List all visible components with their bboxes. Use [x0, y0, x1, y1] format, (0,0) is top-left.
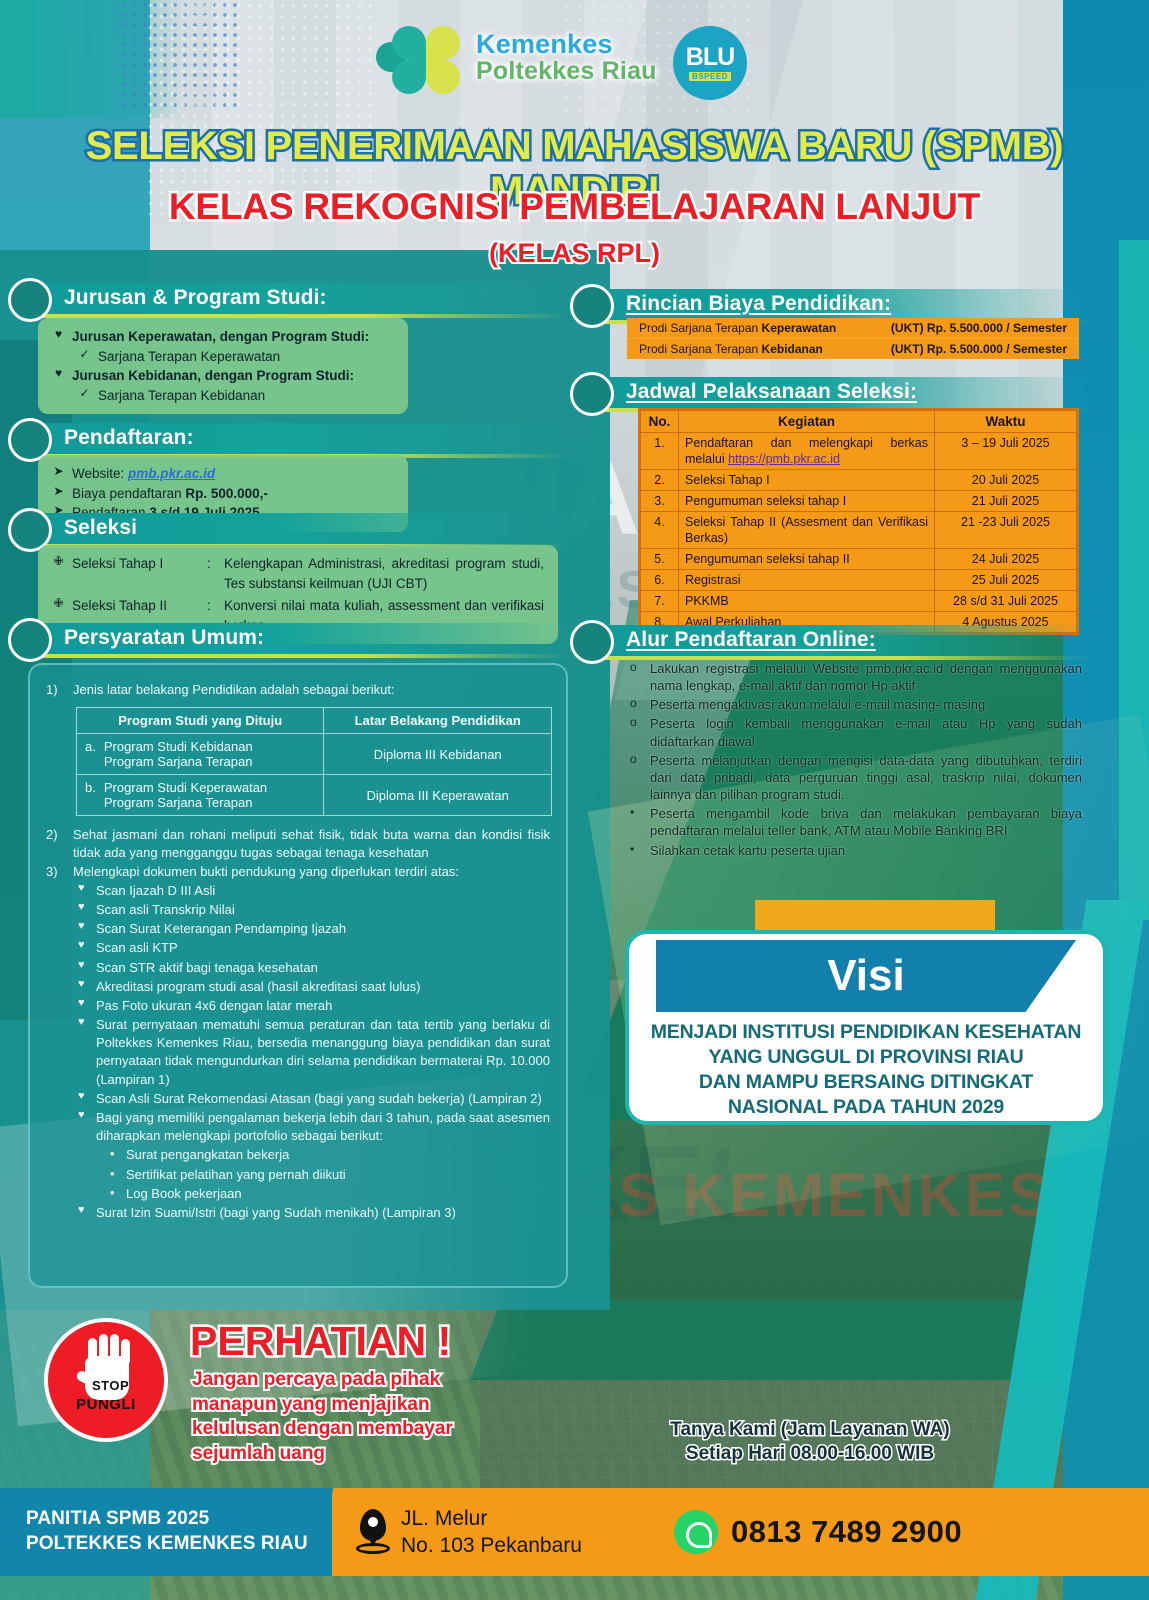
footer-blue-bar: PANITIA SPMB 2025 POLTEKKES KEMENKES RIA… — [0, 1488, 332, 1576]
doc-item: Akreditasi program studi asal (hasil akr… — [96, 978, 420, 996]
alur-step-text: Peserta melanjutkan dengan mengisi data-… — [650, 752, 1082, 803]
cell-kegiatan: Registrasi — [679, 570, 935, 591]
list-item: ➤ Website: pmb.pkr.ac.id — [52, 464, 394, 484]
card-jurusan: ♥ Jurusan Keperawatan, dengan Program St… — [38, 318, 408, 414]
prodi-line-1: Program Studi Keperawatan — [104, 780, 267, 795]
section-underline — [38, 314, 568, 318]
list-item: •Log Book pekerjaan — [46, 1185, 550, 1203]
cell-kegiatan: Seleksi Tahap II (Assesment dan Verifika… — [679, 512, 935, 549]
seleksi-tahap-1-label: Seleksi Tahap I — [72, 554, 200, 574]
doc-item-last: Surat Izin Suami/Istri (bagi yang Sudah … — [96, 1204, 456, 1222]
row-index: a. — [85, 739, 96, 769]
alur-step-text: Peserta mengaktivasi akun melalui e-mail… — [650, 696, 985, 713]
list-item: •Silahkan cetak kartu peserta ujian — [630, 842, 1082, 859]
check-bullet-icon: ✓ — [78, 386, 91, 400]
section-title-persyaratan: Persyaratan Umum: — [38, 623, 568, 654]
table-row: 7. PKKMB 28 s/d 31 Juli 2025 — [641, 591, 1077, 612]
footer-whatsapp[interactable]: 0813 7489 2900 — [674, 1510, 962, 1554]
logo-line-2: Poltekkes Riau — [476, 59, 657, 85]
dot-bullet-icon: • — [630, 805, 641, 821]
panel-persyaratan: 1) Jenis latar belakang Pendidikan adala… — [28, 663, 568, 1288]
arrow-bullet-icon: ➤ — [52, 484, 65, 498]
list-item: ✙ Seleksi Tahap I : Kelengkapan Administ… — [52, 554, 544, 593]
heart-bullet-icon: ♥ — [78, 1016, 88, 1028]
item-number: 1) — [46, 681, 66, 699]
dot-bullet-icon: • — [110, 1185, 118, 1200]
dot-bullet-icon: • — [110, 1146, 118, 1161]
table-row: Prodi Sarjana Terapan Keperawatan (UKT) … — [627, 318, 1079, 338]
prodi-keperawatan-label: Sarjana Terapan Keperawatan — [98, 347, 280, 367]
address-line-2: No. 103 Pekanbaru — [401, 1532, 582, 1559]
wa-hours-line-1: Tanya Kami (Jam Layanan WA) — [600, 1418, 1020, 1442]
list-item: ♥Surat Izin Suami/Istri (bagi yang Sudah… — [46, 1204, 550, 1222]
item-number: 2) — [46, 826, 66, 844]
list-item: oPeserta mengaktivasi akun melalui e-mai… — [630, 696, 1082, 713]
heart-bullet-icon: ♥ — [78, 978, 88, 990]
doc-item: Scan STR aktif bagi tenaga kesehatan — [96, 959, 318, 977]
biaya-value: Rp. 500.000,- — [185, 486, 268, 501]
list-item: ♥ Jurusan Kebidanan, dengan Program Stud… — [52, 366, 394, 386]
cell-waktu: 21 Juli 2025 — [935, 491, 1077, 512]
heart-bullet-icon: ♥ — [78, 959, 88, 971]
table-latar-belakang: Program Studi yang Dituju Latar Belakang… — [76, 707, 552, 816]
portofolio-item: Sertifikat pelatihan yang pernah diikuti — [126, 1166, 346, 1184]
col-header-prodi: Program Studi yang Dituju — [77, 708, 324, 734]
section-title-pendaftaran: Pendaftaran: — [38, 423, 568, 454]
prodi-line-2: Program Sarjana Terapan — [104, 795, 253, 810]
doc-item: Scan Surat Keterangan Pendamping Ijazah — [96, 920, 346, 938]
row-index: b. — [85, 780, 96, 810]
diamond-bullet-icon: ✙ — [52, 554, 65, 568]
cell-waktu: 21 -23 Juli 2025 — [935, 512, 1077, 549]
section-underline — [600, 656, 1090, 660]
arrow-bullet-icon: ➤ — [52, 464, 65, 478]
cell-no: 3. — [641, 491, 679, 512]
dot-bullet-icon: • — [110, 1166, 118, 1181]
logo-text: Kemenkes Poltekkes Riau — [476, 31, 657, 84]
blu-badge-icon: BLU BSPEED — [673, 26, 747, 100]
prodi-line-2: Program Sarjana Terapan — [104, 754, 253, 769]
stop-label: STOP — [92, 1378, 129, 1393]
prodi-kebidanan-label: Sarjana Terapan Kebidanan — [98, 386, 265, 406]
table-row: Prodi Sarjana Terapan Kebidanan (UKT) Rp… — [627, 338, 1079, 359]
biaya-amount-kebidanan: (UKT) Rp. 5.500.000 / Semester — [891, 342, 1067, 356]
list-alur-pendaftaran: oLakukan registrasi melalui Website pmb.… — [630, 660, 1082, 861]
list-item: •Peserta mengambil kode briva dan melaku… — [630, 805, 1082, 839]
col-header-no: No. — [641, 411, 679, 433]
alur-step-text: Peserta login kembali menggunakan e-mail… — [650, 715, 1082, 749]
prodi-line-1: Program Studi Kebidanan — [104, 739, 253, 754]
blu-badge-label: BLU — [686, 45, 734, 70]
cell-latar-kebidanan: Diploma III Kebidanan — [324, 734, 552, 775]
section-bullet-icon — [570, 372, 614, 416]
alur-step-text: Silahkan cetak kartu peserta ujian — [650, 842, 845, 859]
visi-line-4: NASIONAL PADA TAHUN 2029 — [651, 1095, 1081, 1120]
biaya-amount-keperawatan: (UKT) Rp. 5.500.000 / Semester — [891, 321, 1067, 335]
diamond-bullet-icon: ✙ — [52, 596, 65, 610]
dot-bullet-icon: • — [630, 842, 641, 858]
section-header-jurusan: Jurusan & Program Studi: — [8, 278, 568, 322]
heart-bullet-icon: ♥ — [78, 1090, 88, 1102]
page-title-sub2: (KELAS RPL) — [0, 238, 1149, 269]
heart-bullet-icon: ♥ — [78, 882, 88, 894]
portofolio-item: Log Book pekerjaan — [126, 1185, 242, 1203]
table-row: 5. Pengumuman seleksi tahap II 24 Juli 2… — [641, 549, 1077, 570]
stop-pungli-icon: STOP PUNGLI — [44, 1318, 168, 1442]
jadwal-link[interactable]: https://pmb.pkr.ac.id — [728, 452, 840, 466]
prodi-name: Kebidanan — [762, 342, 823, 356]
item-number: 3) — [46, 863, 66, 881]
section-header-alur: Alur Pendaftaran Online: — [570, 620, 1090, 664]
list-item: ♥Scan asli Transkrip Nilai — [46, 901, 550, 919]
list-item: ✓ Sarjana Terapan Kebidanan — [52, 386, 394, 406]
section-underline — [38, 654, 568, 658]
col-header-waktu: Waktu — [935, 411, 1077, 433]
whatsapp-icon — [674, 1510, 718, 1554]
portofolio-item: Surat pengangkatan bekerja — [126, 1146, 289, 1164]
panitia-line-2: POLTEKKES KEMENKES RIAU — [26, 1532, 332, 1557]
table-header-row: Program Studi yang Dituju Latar Belakang… — [77, 708, 552, 734]
section-bullet-icon — [8, 278, 52, 322]
item-text: Melengkapi dokumen bukti pendukung yang … — [73, 863, 459, 881]
list-item: ♥ Jurusan Keperawatan, dengan Program St… — [52, 327, 394, 347]
address-line-1: JL. Melur — [401, 1505, 582, 1532]
table-row: a. Program Studi Kebidanan Program Sarja… — [77, 734, 552, 775]
list-item: oPeserta login kembali menggunakan e-mai… — [630, 715, 1082, 749]
list-item: ♥Scan Surat Keterangan Pendamping Ijazah — [46, 920, 550, 938]
cell-latar-keperawatan: Diploma III Keperawatan — [324, 775, 552, 816]
heart-bullet-icon: ♥ — [78, 920, 88, 932]
cell-no: 7. — [641, 591, 679, 612]
card-visi: Visi MENJADI INSTITUSI PENDIDIKAN KESEHA… — [625, 930, 1107, 1125]
doc-item: Scan Asli Surat Rekomendasi Atasan (bagi… — [96, 1090, 542, 1108]
cell-no: 6. — [641, 570, 679, 591]
section-title-jadwal: Jadwal Pelaksanaan Seleksi: — [600, 377, 1090, 408]
section-title-jurusan: Jurusan & Program Studi: — [38, 283, 568, 314]
cell-kegiatan: Pendaftaran dan melengkapi berkas melalu… — [679, 433, 935, 470]
biaya-prodi-kebidanan: Prodi Sarjana Terapan Kebidanan — [639, 342, 823, 356]
doc-item: Bagi yang memiliki pengalaman bekerja le… — [96, 1109, 550, 1145]
alur-step-text: Lakukan registrasi melalui Website pmb.p… — [650, 660, 1082, 694]
table-biaya-pendidikan: Prodi Sarjana Terapan Keperawatan (UKT) … — [627, 318, 1079, 359]
table-row: 1. Pendaftaran dan melengkapi berkas mel… — [641, 433, 1077, 470]
jurusan-kebidanan-label: Jurusan Kebidanan, dengan Program Studi: — [72, 366, 354, 386]
separator: : — [207, 596, 217, 616]
list-item: •Sertifikat pelatihan yang pernah diikut… — [46, 1166, 550, 1184]
col-header-latar: Latar Belakang Pendidikan — [324, 708, 552, 734]
heart-bullet-icon: ♥ — [78, 901, 88, 913]
list-item: ✓ Sarjana Terapan Keperawatan — [52, 347, 394, 367]
whatsapp-number[interactable]: 0813 7489 2900 — [731, 1514, 962, 1550]
section-bullet-icon — [570, 620, 614, 664]
visi-line-2: YANG UNGGUL DI PROVINSI RIAU — [651, 1045, 1081, 1070]
stop-hand-icon: STOP — [76, 1334, 136, 1400]
section-title-seleksi: Seleksi — [38, 513, 568, 544]
website-link[interactable]: pmb.pkr.ac.id — [128, 466, 215, 481]
doc-item: Scan Ijazah D III Asli — [96, 882, 215, 900]
alur-step-text: Peserta mengambil kode briva dan melakuk… — [650, 805, 1082, 839]
table-row: 4. Seleksi Tahap II (Assesment dan Verif… — [641, 512, 1077, 549]
circle-bullet-icon: o — [630, 752, 641, 768]
visi-line-3: DAN MAMPU BERSAING DITINGKAT — [651, 1070, 1081, 1095]
footer-address: JL. Melur No. 103 Pekanbaru — [401, 1505, 582, 1560]
cell-waktu: 25 Juli 2025 — [935, 570, 1077, 591]
heart-bullet-icon: ♥ — [78, 997, 88, 1009]
circle-bullet-icon: o — [630, 715, 641, 731]
separator: : — [207, 554, 217, 574]
seleksi-tahap-2-label: Seleksi Tahap II — [72, 596, 200, 616]
cell-waktu: 20 Juli 2025 — [935, 470, 1077, 491]
section-bullet-icon — [8, 618, 52, 662]
section-title-biaya: Rincian Biaya Pendidikan: — [600, 289, 1090, 320]
prefix: Prodi Sarjana Terapan — [639, 342, 762, 356]
table-jadwal-seleksi: No. Kegiatan Waktu 1. Pendaftaran dan me… — [638, 408, 1079, 635]
heart-bullet-icon: ♥ — [78, 1109, 88, 1121]
perhatian-title: PERHATIAN ! — [190, 1318, 451, 1365]
heart-bullet-icon: ♥ — [78, 1204, 88, 1216]
heart-bullet-icon: ♥ — [78, 939, 88, 951]
cell-kegiatan: Seleksi Tahap I — [679, 470, 935, 491]
biaya-pendaftaran-row: Biaya pendaftaran Rp. 500.000,- — [72, 484, 268, 504]
visi-ribbon: Visi — [656, 940, 1076, 1012]
cell-waktu: 28 s/d 31 Juli 2025 — [935, 591, 1077, 612]
doc-item: Surat pernyataan mematuhi semua peratura… — [96, 1016, 550, 1089]
list-item: •Surat pengangkatan bekerja — [46, 1146, 550, 1164]
doc-item: Scan asli Transkrip Nilai — [96, 901, 235, 919]
table-row: b. Program Studi Keperawatan Program Sar… — [77, 775, 552, 816]
website-row: Website: pmb.pkr.ac.id — [72, 464, 215, 484]
cell-waktu: 3 – 19 Juli 2025 — [935, 433, 1077, 470]
biaya-label: Biaya pendaftaran — [72, 486, 182, 501]
prodi-name: Keperawatan — [762, 321, 837, 335]
list-item: ♥Scan Asli Surat Rekomendasi Atasan (bag… — [46, 1090, 550, 1108]
cell-prodi-keperawatan: b. Program Studi Keperawatan Program Sar… — [77, 775, 324, 816]
list-item: ♥Pas Foto ukuran 4x6 dengan latar merah — [46, 997, 550, 1015]
list-item: ♥Akreditasi program studi asal (hasil ak… — [46, 978, 550, 996]
institution-logo: Kemenkes Poltekkes Riau — [390, 22, 657, 94]
kemenkes-clover-icon — [390, 22, 462, 94]
cell-no: 1. — [641, 433, 679, 470]
list-item: oPeserta melanjutkan dengan mengisi data… — [630, 752, 1082, 803]
location-pin-icon — [356, 1509, 390, 1555]
biaya-prodi-keperawatan: Prodi Sarjana Terapan Keperawatan — [639, 321, 836, 335]
section-title-alur: Alur Pendaftaran Online: — [600, 625, 1090, 656]
section-header-persyaratan: Persyaratan Umum: — [8, 618, 568, 662]
website-label: Website: — [72, 466, 124, 481]
cell-no: 5. — [641, 549, 679, 570]
list-item: ♥Bagi yang memiliki pengalaman bekerja l… — [46, 1109, 550, 1145]
table-row: 2. Seleksi Tahap I 20 Juli 2025 — [641, 470, 1077, 491]
list-item: ♥Surat pernyataan mematuhi semua peratur… — [46, 1016, 550, 1089]
visi-title: Visi — [827, 951, 904, 1001]
list-item: ♥Scan STR aktif bagi tenaga kesehatan — [46, 959, 550, 977]
item-text: Sehat jasmani dan rohani meliputi sehat … — [73, 826, 550, 862]
check-bullet-icon: ✓ — [78, 347, 91, 361]
cell-no: 2. — [641, 470, 679, 491]
cell-kegiatan: Pengumuman seleksi tahap I — [679, 491, 935, 512]
heart-bullet-icon: ♥ — [52, 366, 65, 380]
perhatian-body: Jangan percaya pada pihak manapun yang m… — [192, 1368, 522, 1467]
table-row: 6. Registrasi 25 Juli 2025 — [641, 570, 1077, 591]
heart-bullet-icon: ♥ — [52, 327, 65, 341]
logo-line-1: Kemenkes — [476, 31, 657, 59]
page-title-sub: KELAS REKOGNISI PEMBELAJARAN LANJUT — [0, 186, 1149, 228]
cell-kegiatan: PKKMB — [679, 591, 935, 612]
jurusan-keperawatan-label: Jurusan Keperawatan, dengan Program Stud… — [72, 327, 369, 347]
circle-bullet-icon: o — [630, 696, 641, 712]
visi-line-1: MENJADI INSTITUSI PENDIDIKAN KESEHATAN — [651, 1020, 1081, 1045]
list-item: ♥Scan Ijazah D III Asli — [46, 882, 550, 900]
wa-service-hours: Tanya Kami (Jam Layanan WA) Setiap Hari … — [600, 1418, 1020, 1466]
seleksi-tahap-1-desc: Kelengkapan Administrasi, akreditasi pro… — [224, 554, 544, 593]
wa-hours-line-2: Setiap Hari 08.00-16.00 WIB — [600, 1442, 1020, 1466]
cell-kegiatan: Pengumuman seleksi tahap II — [679, 549, 935, 570]
visi-body: MENJADI INSTITUSI PENDIDIKAN KESEHATAN Y… — [651, 1020, 1081, 1120]
prefix: Prodi Sarjana Terapan — [639, 321, 762, 335]
col-header-kegiatan: Kegiatan — [679, 411, 935, 433]
footer-orange-bar: JL. Melur No. 103 Pekanbaru 0813 7489 29… — [300, 1488, 1149, 1576]
circle-bullet-icon: o — [630, 660, 641, 676]
blu-badge-sublabel: BSPEED — [689, 72, 731, 81]
doc-item: Pas Foto ukuran 4x6 dengan latar merah — [96, 997, 332, 1015]
persyaratan-item-2: 2) Sehat jasmani dan rohani meliputi seh… — [46, 826, 550, 862]
table-row: 3. Pengumuman seleksi tahap I 21 Juli 20… — [641, 491, 1077, 512]
table-header-row: No. Kegiatan Waktu — [641, 411, 1077, 433]
list-item: oLakukan registrasi melalui Website pmb.… — [630, 660, 1082, 694]
persyaratan-item-3: 3) Melengkapi dokumen bukti pendukung ya… — [46, 863, 550, 881]
cell-prodi-kebidanan: a. Program Studi Kebidanan Program Sarja… — [77, 734, 324, 775]
section-bullet-icon — [570, 284, 614, 328]
cell-waktu: 24 Juli 2025 — [935, 549, 1077, 570]
list-item: ➤ Biaya pendaftaran Rp. 500.000,- — [52, 484, 394, 504]
list-item: ♥Scan asli KTP — [46, 939, 550, 957]
item-text: Jenis latar belakang Pendidikan adalah s… — [73, 681, 395, 699]
cell-no: 4. — [641, 512, 679, 549]
persyaratan-item-1: 1) Jenis latar belakang Pendidikan adala… — [46, 681, 550, 699]
doc-item: Scan asli KTP — [96, 939, 178, 957]
panitia-line-1: PANITIA SPMB 2025 — [26, 1507, 332, 1532]
